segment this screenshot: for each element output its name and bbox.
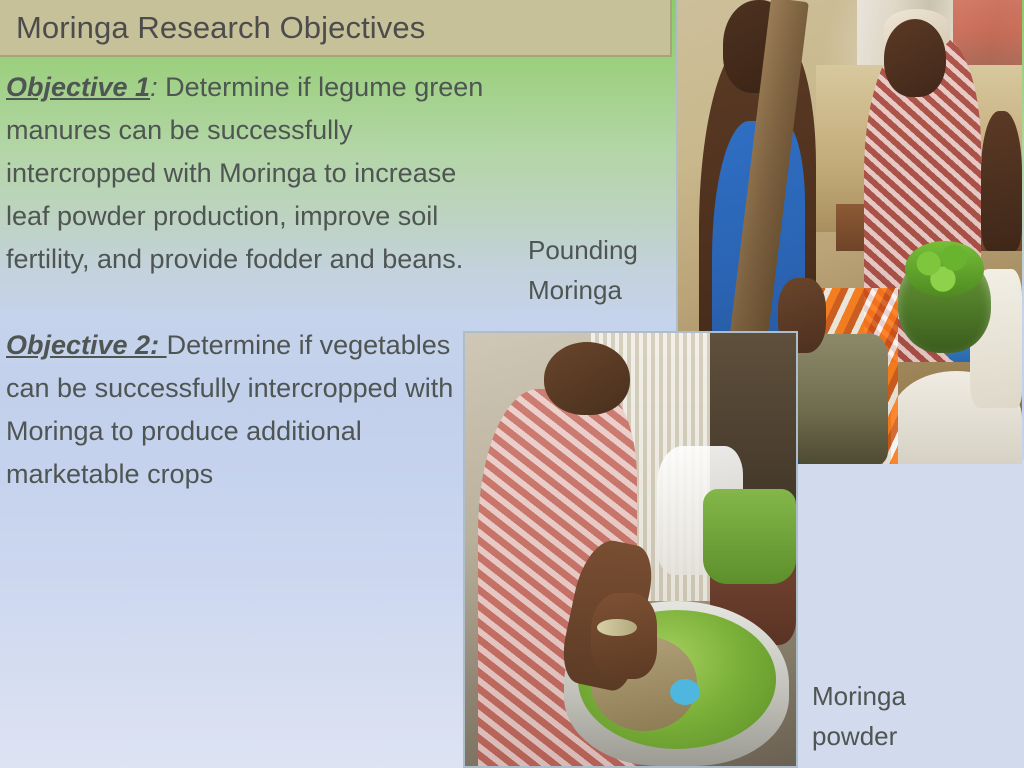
caption-moringa-powder: Moringa powder <box>812 676 982 756</box>
green-pot <box>703 489 796 584</box>
title-bar: Moringa Research Objectives <box>0 0 672 57</box>
objectives-text-block: Objective 1: Determine if legume green m… <box>6 66 486 496</box>
slide: Moringa Research Objectives Objective 1:… <box>0 0 1024 768</box>
page-title: Moringa Research Objectives <box>16 10 425 46</box>
woman-head <box>544 342 630 416</box>
objective-1-text: Determine if legume green manures can be… <box>6 72 483 274</box>
objective-1-paragraph: Objective 1: Determine if legume green m… <box>6 66 486 281</box>
objective-1-colon: : <box>150 72 158 102</box>
child-figure <box>981 111 1022 250</box>
paragraph-spacer <box>6 281 486 324</box>
photo-moringa-powder <box>463 331 798 768</box>
bangle <box>597 619 637 636</box>
wooden-mortar <box>795 334 888 464</box>
objective-2-paragraph: Objective 2: Determine if vegetables can… <box>6 324 486 496</box>
moringa-leaves <box>905 241 984 297</box>
objective-2-label: Objective 2: <box>6 330 167 360</box>
seated-woman-head <box>884 19 946 98</box>
caption-pounding-moringa: Pounding Moringa <box>528 230 678 310</box>
objective-1-label: Objective 1 <box>6 72 150 102</box>
woman-hand <box>591 593 657 680</box>
